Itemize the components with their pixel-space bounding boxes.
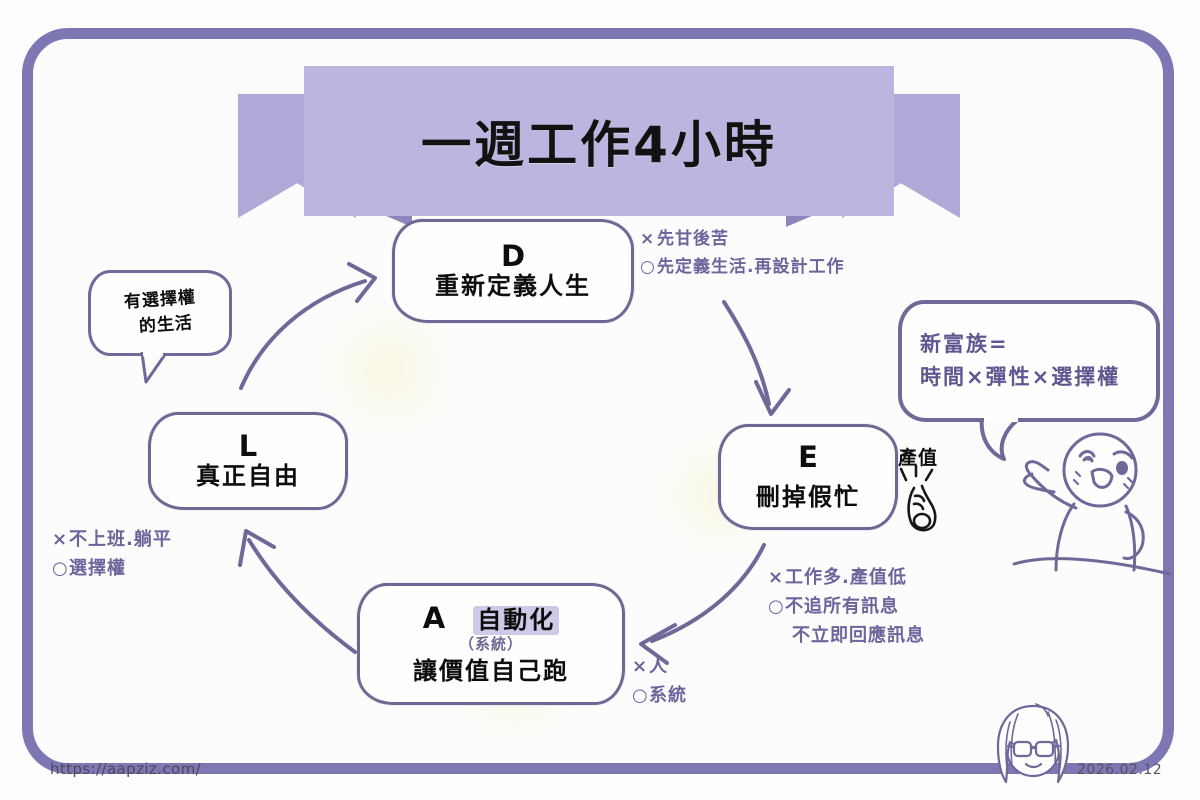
- notes-d-bad: 先甘後苦: [657, 229, 729, 249]
- notes-a-bad-line: ×人: [632, 652, 687, 681]
- notes-l-bad-line: ×不上班.躺平: [52, 525, 172, 554]
- notes-a-bad: 人: [649, 656, 668, 677]
- site-url[interactable]: https://aapziz.com/: [50, 760, 201, 778]
- notes-e-bad: 工作多.產值低: [785, 567, 907, 588]
- node-l-liberation[interactable]: L 真正自由: [148, 412, 348, 510]
- cross-icon: ×: [632, 652, 649, 681]
- node-e-elimination[interactable]: E 刪掉假忙: [718, 424, 898, 530]
- notes-e-good2-line: 不立即回應訊息: [768, 621, 925, 650]
- circle-icon: ○: [640, 254, 657, 282]
- node-d-label: 重新定義人生: [435, 272, 591, 301]
- node-d-define[interactable]: D 重新定義人生: [392, 219, 634, 323]
- notes-a-good: 系統: [649, 685, 687, 706]
- notes-d-bad-line: ×先甘後苦: [640, 226, 844, 254]
- node-e-label: 刪掉假忙: [756, 483, 860, 512]
- cross-icon: ×: [52, 525, 69, 554]
- notes-l-good: 選擇權: [69, 558, 126, 579]
- node-a-letter: A: [423, 603, 445, 633]
- node-e-letter: E: [798, 442, 818, 472]
- speech-bubble-left: 有選擇權 的生活: [88, 270, 232, 356]
- author-avatar: [988, 702, 1078, 788]
- node-l-letter: L: [239, 431, 257, 461]
- notes-d: ×先甘後苦 ○先定義生活.再設計工作: [640, 226, 844, 281]
- notes-d-good-line: ○先定義生活.再設計工作: [640, 254, 844, 282]
- notes-e-good2: 不立即回應訊息: [792, 625, 925, 646]
- arrow-e-to-a: [641, 545, 764, 663]
- node-a-automation[interactable]: A 自動化 （系統） 讓價值自己跑: [357, 583, 625, 705]
- speech-bubble-right: 新富族= 時間×彈性×選擇權: [898, 300, 1160, 422]
- notes-a-good-line: ○系統: [632, 681, 687, 710]
- node-a-highlight-label: 自動化: [473, 606, 559, 635]
- node-d-letter: D: [501, 241, 525, 271]
- cross-icon: ×: [768, 563, 785, 592]
- notes-a: ×人 ○系統: [632, 652, 687, 710]
- circle-icon: ○: [768, 592, 785, 621]
- node-a-label: 讓價值自己跑: [413, 657, 569, 686]
- arrow-d-to-e: [724, 302, 789, 414]
- circle-icon: ○: [632, 681, 649, 710]
- notes-d-good: 先定義生活.再設計工作: [657, 257, 844, 277]
- notes-e-good-line: ○不追所有訊息: [768, 592, 925, 621]
- notes-l-good-line: ○選擇權: [52, 554, 172, 583]
- pointing-up-hand-icon: [896, 466, 950, 536]
- speech-bubble-left-tail: [140, 352, 166, 384]
- node-l-label: 真正自由: [196, 462, 300, 491]
- bubble-right-line2: 時間×彈性×選擇權: [920, 361, 1120, 394]
- bubble-right-line1: 新富族=: [920, 328, 1009, 361]
- arrow-a-to-l: [240, 531, 355, 652]
- cross-icon: ×: [640, 226, 657, 254]
- date-stamp: 2026.02.12: [1077, 762, 1162, 778]
- arrow-l-to-d: [241, 264, 375, 388]
- node-a-top-row: A 自動化: [423, 603, 559, 635]
- notes-l-bad: 不上班.躺平: [69, 529, 172, 550]
- notes-l: ×不上班.躺平 ○選擇權: [52, 525, 172, 583]
- node-a-sublabel: （系統）: [459, 635, 523, 653]
- bubble-left-line2: 的生活: [138, 311, 194, 339]
- notes-e: ×工作多.產值低 ○不追所有訊息 不立即回應訊息: [768, 563, 925, 650]
- notes-e-bad-line: ×工作多.產值低: [768, 563, 925, 592]
- notes-e-good: 不追所有訊息: [785, 596, 899, 617]
- infographic-canvas: 一週工作4小時 D 重新定義人生 E 刪掉假忙: [0, 0, 1200, 800]
- circle-icon: ○: [52, 554, 69, 583]
- pointing-character-illustration: [996, 428, 1176, 580]
